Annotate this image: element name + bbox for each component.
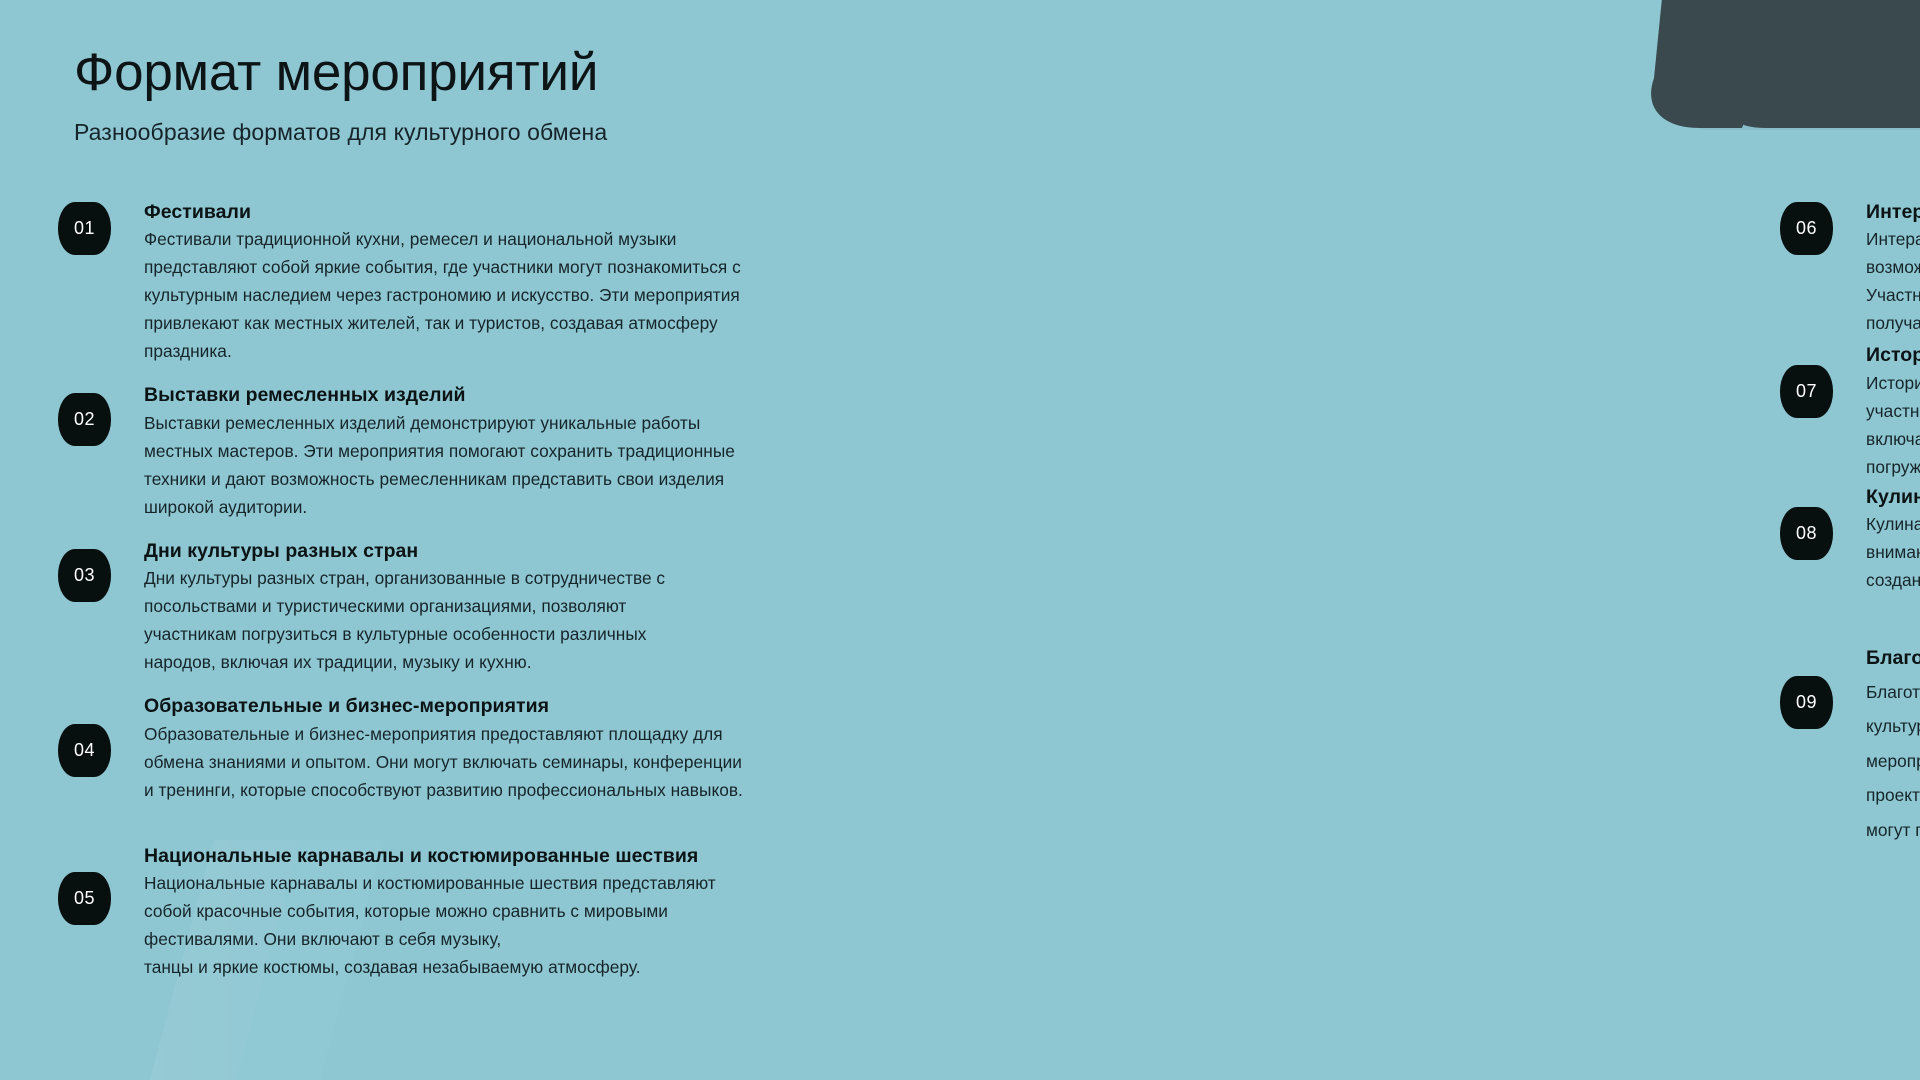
item-body: Исторические реконструкции и тематически… xyxy=(1866,369,1920,481)
item-body: Кулинарные баттлы между профессиональным… xyxy=(1866,510,1920,594)
item-body: Интерактивные мастер-классы для детей и … xyxy=(1866,225,1920,337)
page-title: Формат мероприятий xyxy=(74,44,1074,101)
list-item: 06Интерактивные мастер-классыИнтерактивн… xyxy=(1780,200,1920,337)
item-body-line: создании блюд, демонстрируя свои навыки … xyxy=(1866,566,1920,594)
item-body-line: мероприятий, собирая средства на различн… xyxy=(1866,744,1920,779)
item-body-line: участникам увидеть и понять историю вжив… xyxy=(1866,397,1920,425)
item-body: Благотворительные и коммерческие аукцион… xyxy=(1866,675,1920,848)
right-column: 06Интерактивные мастер-классыИнтерактивн… xyxy=(20,200,1040,981)
item-body-line: Исторические реконструкции и тематически… xyxy=(1866,369,1920,397)
item-body-line: Благотворительные и коммерческие аукцион… xyxy=(1866,675,1920,710)
item-title: Интерактивные мастер-классы xyxy=(1866,200,1920,224)
item-body-line: получая практический опыт. xyxy=(1866,309,1920,337)
item-body-line: Участники могут попробовать себя в разли… xyxy=(1866,281,1920,309)
item-body-line: включают в себя актеров, которые воссозд… xyxy=(1866,425,1920,453)
deco-light-band xyxy=(1700,0,1920,130)
deco-dark-shape xyxy=(1680,0,1920,128)
item-number-badge: 08 xyxy=(1780,507,1833,560)
deco-dark-shape-body xyxy=(1651,0,1795,128)
item-number-badge: 09 xyxy=(1780,676,1833,729)
item-body-line: возможность научиться новым навыкам в ув… xyxy=(1866,253,1920,281)
item-body-line: могут привлекать как местных жителей, та… xyxy=(1866,813,1920,848)
list-item: 08Кулинарные баттлыКулинарные баттлы меж… xyxy=(1780,485,1920,594)
item-title: Исторические реконструкции xyxy=(1866,343,1920,367)
item-body-line: культурных xyxy=(1866,709,1920,744)
item-body-line: Кулинарные баттлы между профессиональным… xyxy=(1866,510,1920,538)
item-title: Кулинарные баттлы xyxy=(1866,485,1920,509)
item-body-line: погружая зрителей в атмосферу прошлого. xyxy=(1866,453,1920,481)
item-body-line: внимание зрителей и развлекают публику. … xyxy=(1866,538,1920,566)
item-body-line: проекты. Эти аукционы xyxy=(1866,778,1920,813)
item-body-line: Интерактивные мастер-классы для детей и … xyxy=(1866,225,1920,253)
page-subtitle: Разнообразие форматов для культурного об… xyxy=(74,119,1074,146)
item-title: Благотворительные и коммерческие аукцион… xyxy=(1866,646,1920,670)
list-item: 09Благотворительные и коммерческие аукци… xyxy=(1780,646,1920,847)
slide-header: Формат мероприятий Разнообразие форматов… xyxy=(74,44,1074,146)
list-item: 07Исторические реконструкцииИсторические… xyxy=(1780,343,1920,480)
item-number-badge: 06 xyxy=(1780,202,1833,255)
item-number-badge: 07 xyxy=(1780,365,1833,418)
content-columns: 01ФестивалиФестивали традиционной кухни,… xyxy=(0,200,1920,981)
